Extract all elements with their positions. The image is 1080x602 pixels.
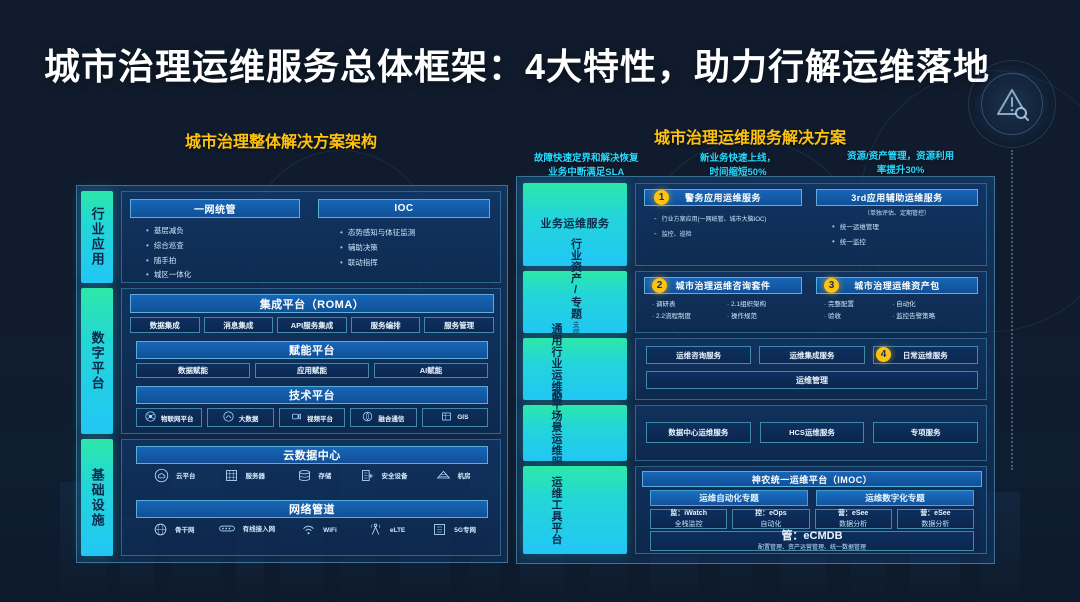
warning-magnifier-icon — [968, 60, 1056, 148]
comm-icon — [362, 411, 373, 424]
slide-background: 城市治理运维服务总体框架：4大特性，助力行解运维落地 城市治理整体解决方案架构 … — [0, 0, 1080, 602]
backbone-icon — [153, 522, 168, 539]
card-title-yiwangtongguan[interactable]: 一网统管 — [130, 199, 300, 218]
elte-icon — [368, 522, 383, 539]
ops-row-assets: 城市治理运维咨询套件 2 · 调研表 · 2.2流程制度 · 2.1组织架构 ·… — [635, 271, 987, 333]
chip-ai-enablement[interactable]: AI赋能 — [374, 363, 488, 378]
ops-tier-horizontal[interactable]: 水平场景运维服务 — [523, 405, 627, 461]
chip-ops-consulting[interactable]: 运维咨询服务 — [646, 346, 751, 364]
item-storage[interactable]: 存储 — [279, 468, 349, 485]
group-title-network[interactable]: 网络管道 — [136, 500, 488, 518]
ops-row-general: 运维咨询服务 运维集成服务 日常运维服务 4 运维管理 — [635, 338, 987, 400]
item-5g[interactable]: 5G专网 — [420, 522, 488, 539]
connector-dotted-line — [1011, 150, 1013, 470]
chip-ops-integration[interactable]: 运维集成服务 — [759, 346, 864, 364]
tier-label: 行业应用 — [89, 207, 104, 267]
chip-message-integration[interactable]: 消息集成 — [204, 317, 274, 333]
item-wifi[interactable]: WiFi — [285, 522, 353, 539]
ops-tier-label: 业务运维服务 — [541, 218, 610, 231]
kpi-annotation: 资源/资产管理，资源利用率提升30% — [847, 150, 954, 178]
item-security-device[interactable]: 安全设备 — [349, 468, 419, 485]
chip-communication[interactable]: 融合通信 — [350, 408, 416, 427]
bullets-yiwangtongguan: 基层减负 综合巡查 随手拍 城区一体化 — [146, 224, 296, 283]
bigdata-icon — [223, 411, 234, 424]
ops-row-business: 警务应用运维服务 1 行业方案应用(一网统管、城市大脑IOC) 监控、巡检 3r… — [635, 183, 987, 266]
left-section-heading: 城市治理整体解决方案架构 — [185, 128, 377, 152]
chip-hcs-ops[interactable]: HCS运维服务 — [760, 422, 865, 443]
page-title: 城市治理运维服务总体框架：4大特性，助力行解运维落地 — [44, 38, 994, 90]
bullets-consult-col1: · 调研表 · 2.2流程制度 — [652, 299, 727, 324]
cloud-icon — [154, 468, 169, 485]
ops-tier-label: 运维工具平台 — [549, 476, 601, 545]
card-title-ops-asset-pack[interactable]: 城市治理运维资产包 — [816, 277, 978, 294]
bullets-police-app: 行业方案应用(一网统管、城市大脑IOC) 监控、巡检 — [654, 212, 812, 242]
chip-service-orchestration[interactable]: 服务编排 — [351, 317, 421, 333]
bullets-asset-col1: · 完整配置 · 验收 — [824, 299, 892, 324]
bullets-ioc: 态势感知与体征监测 辅助决策 联动指挥 — [340, 226, 492, 270]
item-datacenter[interactable]: 机房 — [418, 468, 488, 485]
card-title-ioc[interactable]: IOC — [318, 199, 490, 218]
ops-tier-toolplatform[interactable]: 运维工具平台 — [523, 466, 627, 554]
chip-theme-automation[interactable]: 运维自动化专题 — [650, 490, 808, 506]
wifi-icon — [301, 522, 316, 539]
chip-service-management[interactable]: 服务管理 — [424, 317, 494, 333]
server-icon — [224, 468, 239, 485]
chip-gis[interactable]: GIS — [422, 408, 488, 427]
tier-industry-app[interactable]: 行业应用 — [81, 191, 113, 283]
item-server[interactable]: 服务器 — [210, 468, 280, 485]
chip-video[interactable]: 视频平台 — [279, 408, 345, 427]
chip-app-enablement[interactable]: 应用赋能 — [255, 363, 369, 378]
bullets-3rd-app: 统一运维管理 统一监控 — [832, 220, 978, 250]
chip-data-integration[interactable]: 数据集成 — [130, 317, 200, 333]
group-title-cloud-dc[interactable]: 云数据中心 — [136, 446, 488, 464]
group-title-enablement[interactable]: 赋能平台 — [136, 341, 488, 359]
infrastructure-group: 云数据中心 云平台 服务器 存储 安全设备 — [121, 439, 501, 556]
platform-title-imoc[interactable]: 神农统一运维平台（IMOC） — [642, 471, 982, 487]
ops-row-toolplatform: 神农统一运维平台（IMOC） 运维自动化专题 运维数字化专题 监：iWatch … — [635, 466, 987, 554]
bullets-consult-col2: · 2.1组织架构 · 操作规范 — [727, 299, 802, 324]
tool-esee-1[interactable]: 营：eSee 数据分析 — [815, 509, 892, 529]
tier-label: 基础设施 — [89, 468, 104, 528]
item-elte[interactable]: eLTE — [353, 522, 421, 539]
item-cloud-platform[interactable]: 云平台 — [140, 468, 210, 485]
storage-icon — [297, 468, 312, 485]
item-backbone[interactable]: 骨干网 — [140, 522, 208, 539]
ops-row-horizontal: 数据中心运维服务 HCS运维服务 专项服务 — [635, 405, 987, 461]
right-section-heading: 城市治理运维服务解决方案 — [654, 124, 846, 148]
chip-ops-management[interactable]: 运维管理 — [646, 371, 978, 389]
tier-label: 数字平台 — [89, 331, 104, 391]
badge-4: 4 — [876, 347, 891, 362]
5g-icon — [432, 522, 447, 539]
item-wired-access[interactable]: 有线接入网 — [208, 522, 286, 539]
tool-eops[interactable]: 控：eOps 自动化 — [732, 509, 809, 529]
group-title-roma[interactable]: 集成平台（ROMA） — [130, 294, 494, 313]
chip-theme-digital[interactable]: 运维数字化专题 — [816, 490, 974, 506]
bullets-asset-col2: · 自动化 · 监控告警策略 — [892, 299, 974, 324]
ops-tier-label: 行业资产/专题 — [569, 238, 582, 320]
tool-esee-2[interactable]: 营：eSee 数据分析 — [897, 509, 974, 529]
badge-1: 1 — [654, 190, 669, 205]
badge-2: 2 — [652, 278, 667, 293]
card-title-ops-consulting-kit[interactable]: 城市治理运维咨询套件 — [644, 277, 802, 294]
chip-bigdata[interactable]: 大数据 — [207, 408, 273, 427]
datacenter-icon — [436, 468, 451, 485]
card-title-3rd-app-ops[interactable]: 3rd应用辅助运维服务 — [816, 189, 978, 206]
tool-ecmdb[interactable]: 管：eCMDB 配置管理、资产运营管理、统一数据管理 — [650, 531, 974, 551]
iot-icon — [145, 411, 156, 424]
gis-icon — [441, 411, 452, 424]
group-title-technology[interactable]: 技术平台 — [136, 386, 488, 404]
security-icon — [360, 468, 375, 485]
badge-3: 3 — [824, 278, 839, 293]
tier-digital-platform[interactable]: 数字平台 — [81, 288, 113, 434]
tool-iwatch[interactable]: 监：iWatch 全栈监控 — [650, 509, 727, 529]
tier-infrastructure[interactable]: 基础设施 — [81, 439, 113, 556]
chip-special-service[interactable]: 专项服务 — [873, 422, 978, 443]
chip-data-enablement[interactable]: 数据赋能 — [136, 363, 250, 378]
video-icon — [291, 411, 302, 424]
chip-iot[interactable]: 物联网平台 — [136, 408, 202, 427]
digital-platform-group: 集成平台（ROMA） 数据集成 消息集成 API服务集成 服务编排 服务管理 赋… — [121, 288, 501, 434]
chip-dc-ops[interactable]: 数据中心运维服务 — [646, 422, 751, 443]
card-sub-3rd-app: （单独评估、定期管控） — [816, 208, 978, 217]
left-architecture-panel: 行业应用 数字平台 基础设施 一网统管 基层减负 综合巡查 随手拍 城区一体化 … — [76, 185, 508, 563]
industry-app-group: 一网统管 基层减负 综合巡查 随手拍 城区一体化 IOC 态势感知与体征监测 辅… — [121, 191, 501, 283]
wired-icon — [218, 522, 236, 537]
right-ops-panel: 业务运维服务 警务应用运维服务 1 行业方案应用(一网统管、城市大脑IOC) 监… — [516, 176, 995, 564]
chip-api-integration[interactable]: API服务集成 — [277, 317, 347, 333]
